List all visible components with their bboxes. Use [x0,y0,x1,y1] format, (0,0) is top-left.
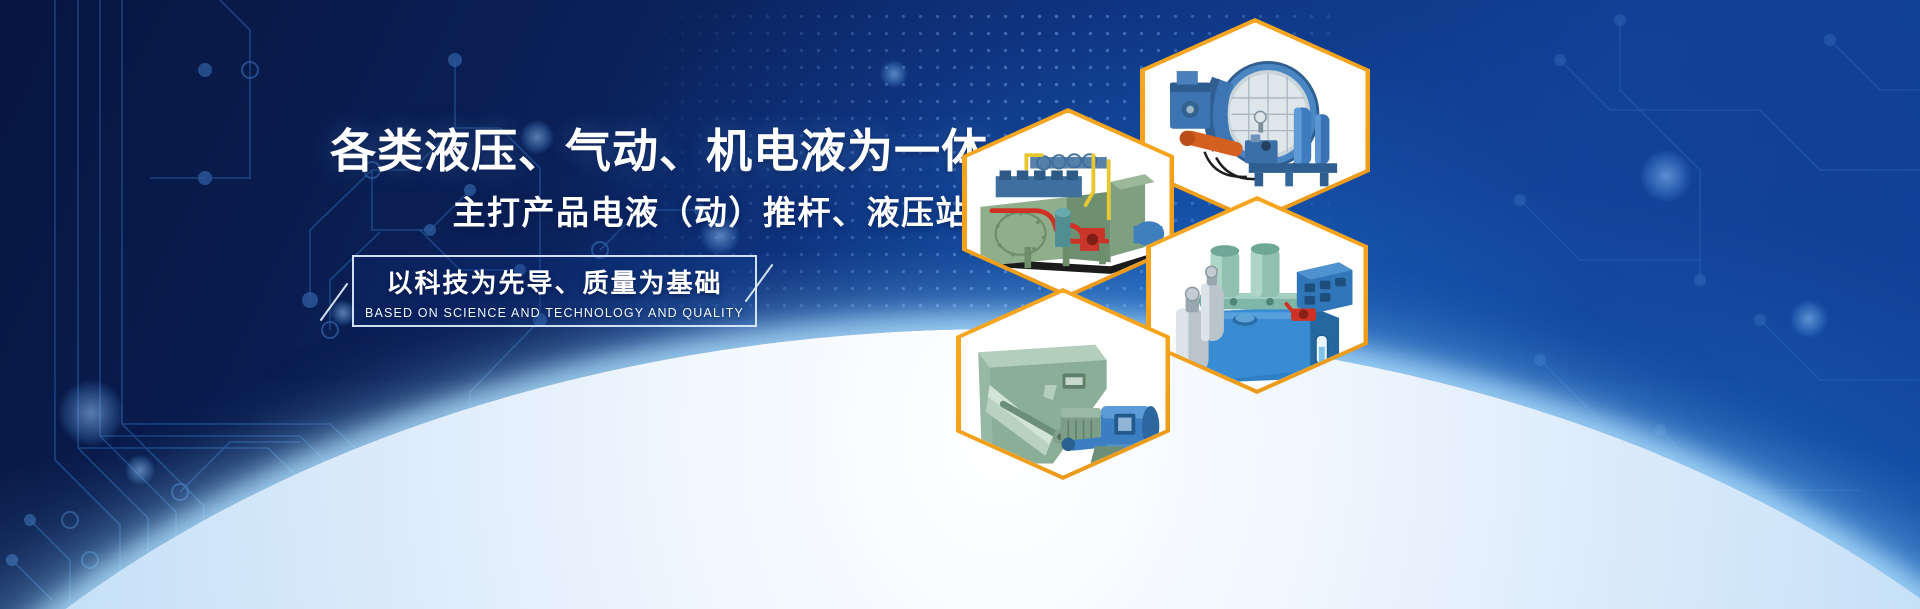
green-power-unit-illustration [967,113,1170,294]
circuit-trace-artwork-right [1500,0,1920,609]
bokeh-dot [880,60,908,88]
hex-image-frame [967,113,1170,294]
blue-hydraulic-station-illustration [1151,201,1364,390]
headline-text-block: 各类液压、气动、机电液为一体 主打产品电液（动）推杆、液压站 以科技为先导、质量… [330,126,970,327]
hex-border [956,288,1170,480]
slogan-chinese: 以科技为先导、质量为基础 [386,263,722,300]
hex-image-frame [1145,23,1366,219]
headline-primary: 各类液压、气动、机电液为一体 [330,126,970,178]
slogan-box: 以科技为先导、质量为基础 BASED ON SCIENCE AND TECHNO… [352,255,757,327]
slogan-container: 以科技为先导、质量为基础 BASED ON SCIENCE AND TECHNO… [330,255,970,327]
headline-secondary: 主打产品电液（动）推杆、液压站 [330,194,970,232]
slogan-english: BASED ON SCIENCE AND TECHNOLOGY AND QUAL… [365,306,744,320]
hex-image-frame [1151,201,1364,390]
hex-border [1140,18,1370,223]
butterfly-valve-illustration [1145,23,1366,219]
product-hex-blue-hydraulic-station[interactable] [1146,196,1368,394]
hero-banner: 各类液压、气动、机电液为一体 主打产品电液（动）推杆、液压站 以科技为先导、质量… [0,0,1920,609]
push-rod-damper-illustration [961,293,1166,476]
hex-border [962,108,1174,298]
product-hex-green-hydraulic-power-station[interactable] [962,108,1174,298]
product-hex-hydraulic-butterfly-valve[interactable] [1140,18,1370,223]
hex-border [1146,196,1368,394]
hex-image-frame [961,293,1166,476]
product-hexagon-cluster [950,0,1450,609]
product-hex-electro-hydraulic-push-rod[interactable] [956,288,1170,480]
